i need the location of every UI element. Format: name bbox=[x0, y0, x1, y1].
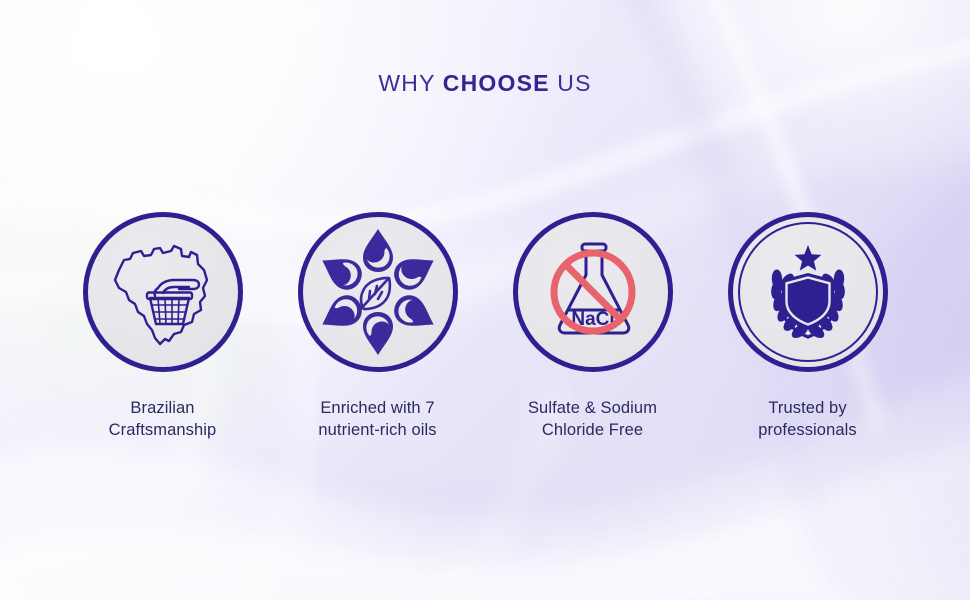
badge-circle-sulfate-free: NaCl bbox=[513, 212, 673, 372]
badge-circle-trusted-professionals bbox=[728, 212, 888, 372]
feature-item-trusted-professionals: Trusted by professionals bbox=[700, 212, 915, 442]
page-title: WHY CHOOSE US bbox=[0, 70, 970, 97]
title-part-us: US bbox=[550, 70, 592, 96]
badge-circle-brazilian-craftsmanship bbox=[83, 212, 243, 372]
brazil-map-basket-icon bbox=[97, 226, 229, 358]
oil-droplets-leaf-icon bbox=[315, 229, 441, 355]
no-sulfate-flask-icon: NaCl bbox=[529, 228, 657, 356]
feature-item-nutrient-oils: Enriched with 7 nutrient-rich oils bbox=[270, 212, 485, 442]
feature-list: Brazilian Craftsmanship bbox=[0, 212, 970, 442]
feature-item-brazilian-craftsmanship: Brazilian Craftsmanship bbox=[55, 212, 270, 442]
badge-circle-nutrient-oils bbox=[298, 212, 458, 372]
feature-item-sulfate-free: NaCl Sulfate & Sodium Chloride Free bbox=[485, 212, 700, 442]
star-icon bbox=[794, 245, 821, 271]
feature-caption: Sulfate & Sodium Chloride Free bbox=[528, 398, 657, 442]
feature-caption: Trusted by professionals bbox=[758, 398, 857, 442]
title-part-choose: CHOOSE bbox=[443, 70, 550, 96]
why-choose-us-banner: WHY CHOOSE US bbox=[0, 0, 970, 600]
feature-caption: Enriched with 7 nutrient-rich oils bbox=[318, 398, 436, 442]
feature-caption: Brazilian Craftsmanship bbox=[109, 398, 217, 442]
laurel-shield-star-icon bbox=[745, 229, 871, 355]
title-part-why: WHY bbox=[378, 70, 442, 96]
